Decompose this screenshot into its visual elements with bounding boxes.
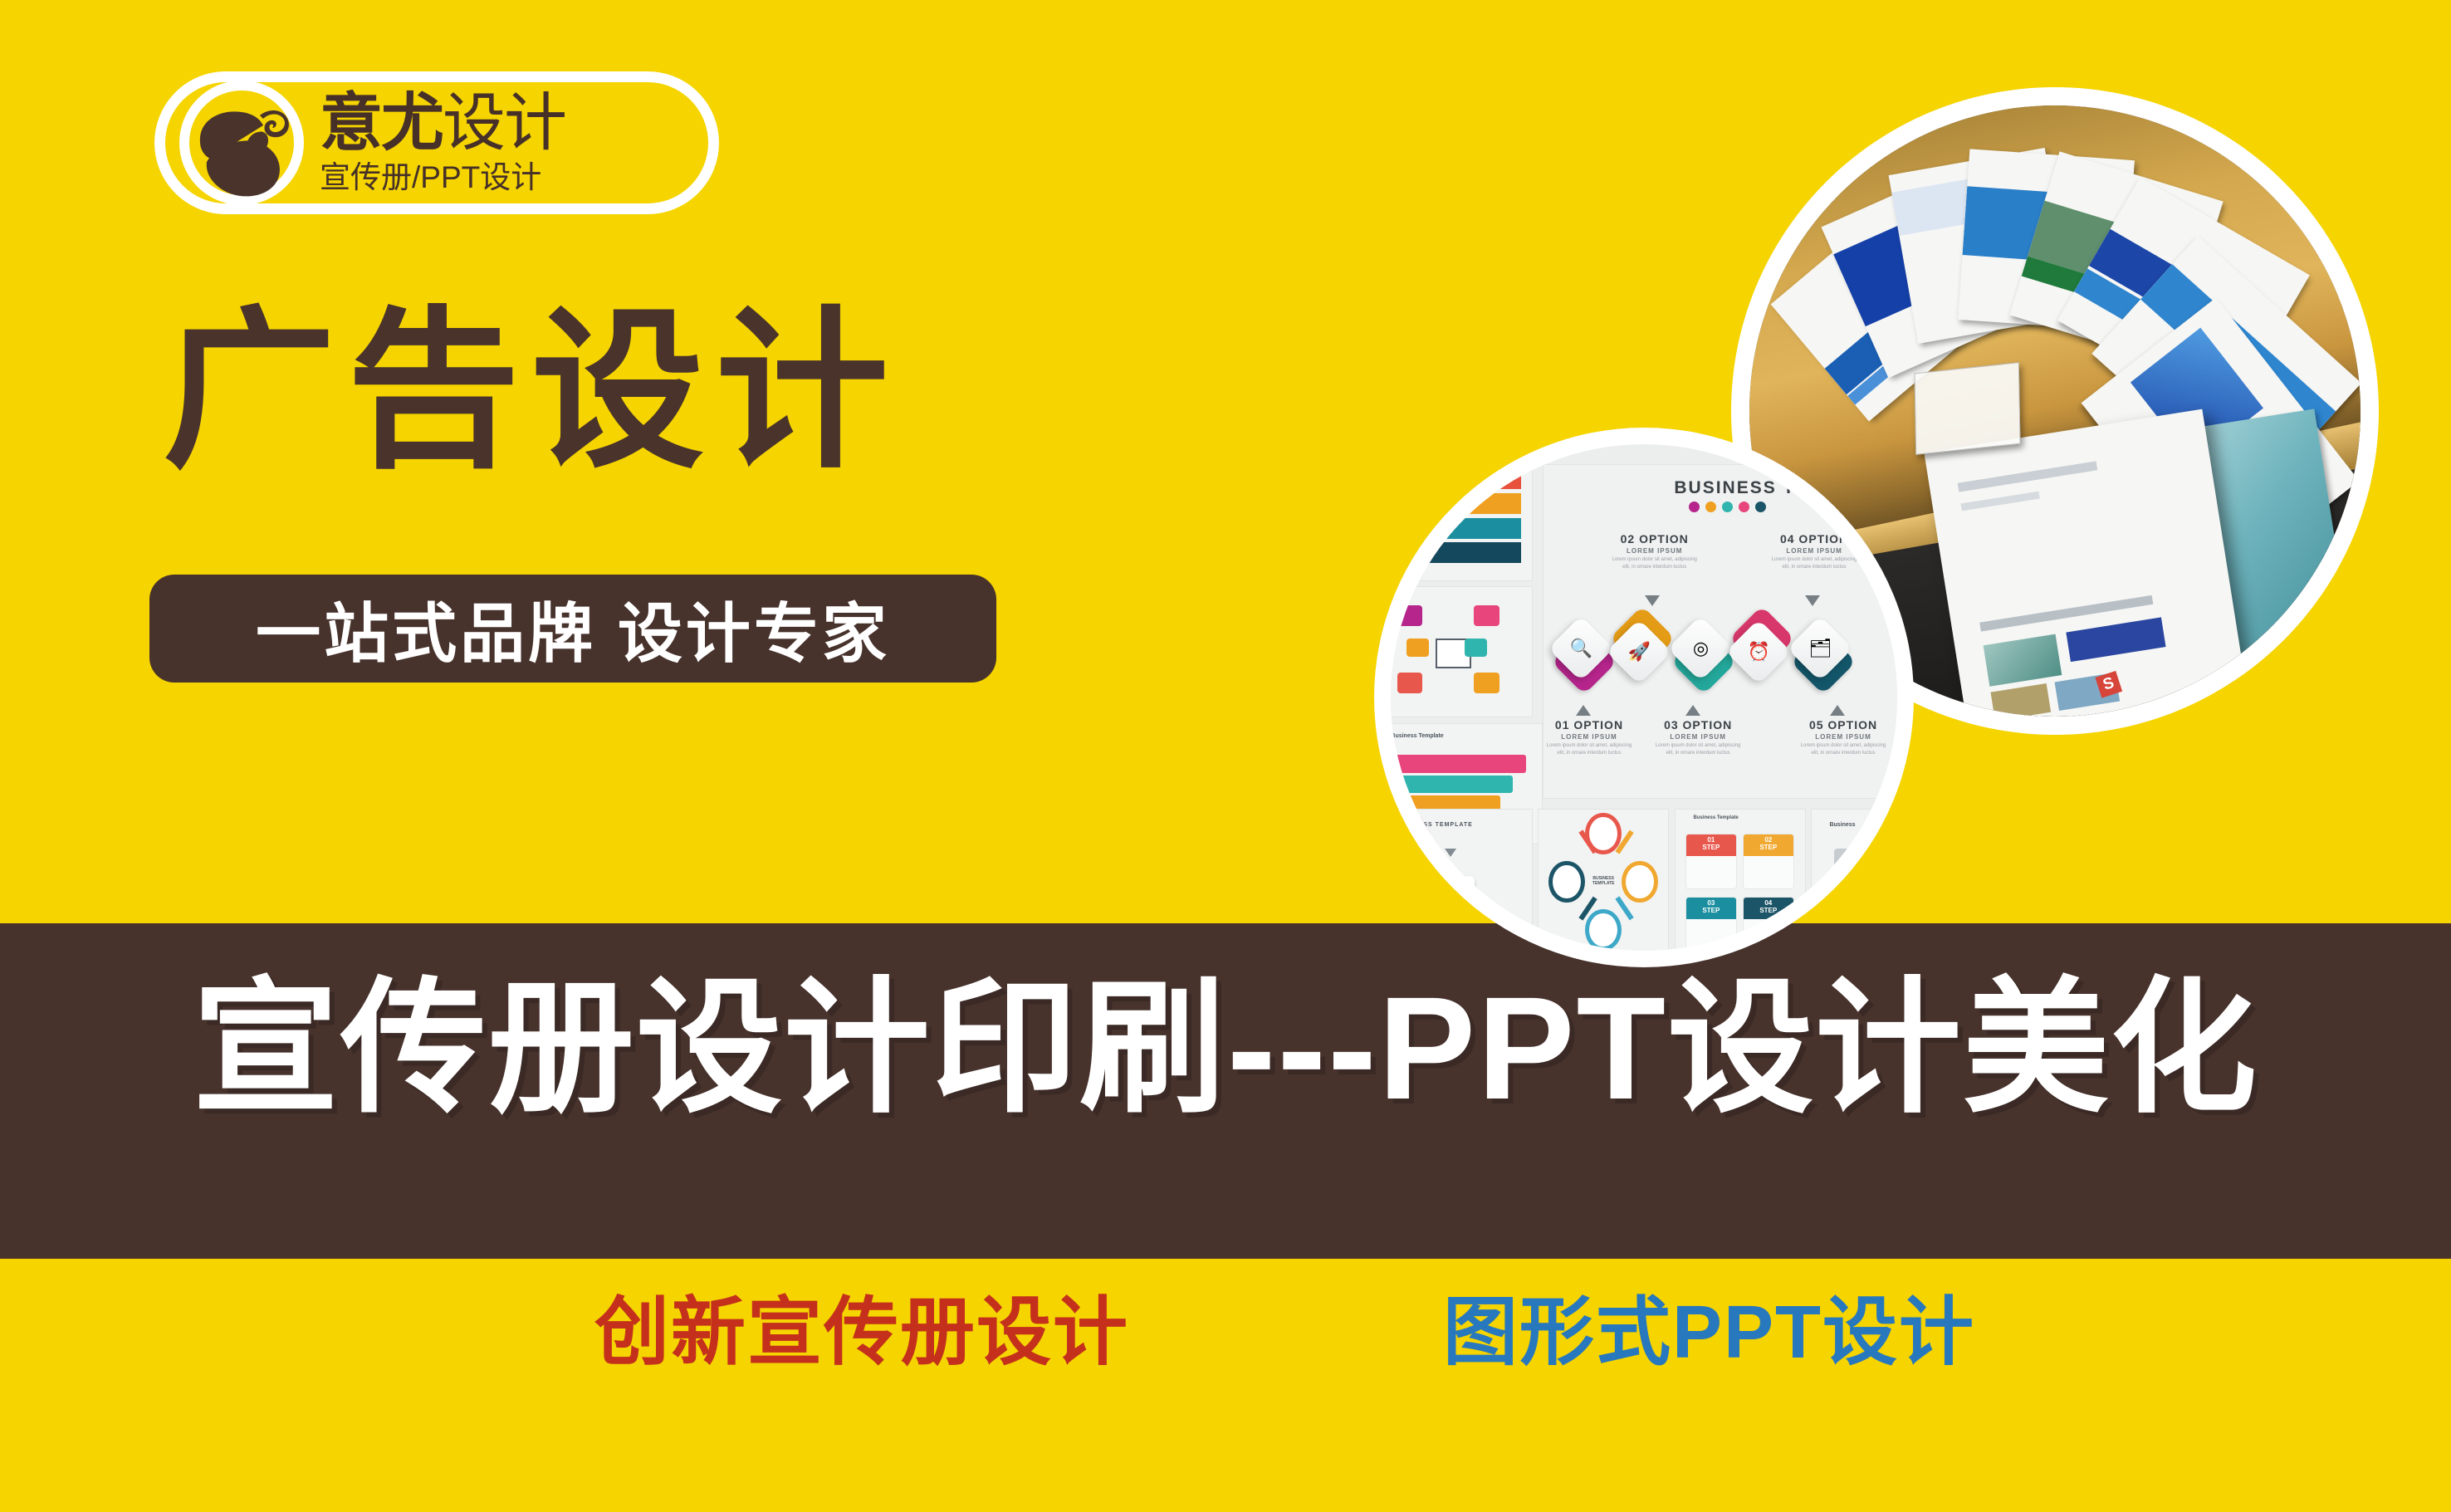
option-block-02: 02 OPTION LOREM IPSUM Lorem ipsum dolor … — [1609, 532, 1700, 571]
pointer-down-icon — [1805, 595, 1820, 606]
page-title: 广告设计 — [163, 306, 900, 478]
pointer-down-icon — [1645, 595, 1660, 606]
option-body: Lorem ipsum dolor sit amet, adipiscing e… — [1609, 556, 1700, 571]
pointer-up-icon — [1830, 705, 1845, 716]
option-title: 01 OPTION — [1543, 718, 1635, 732]
rocket-icon: 🚀 — [1616, 629, 1662, 675]
infographic-collage-circle: Business Template BUSINESS TEMPLATE — [1374, 428, 1914, 967]
option-block-01: 01 OPTION LOREM IPSUM Lorem ipsum dolor … — [1543, 718, 1635, 757]
brochure-front-cover: S — [1924, 409, 2248, 717]
pointer-up-icon — [1685, 705, 1700, 716]
infographic-collage-inner: Business Template BUSINESS TEMPLATE — [1391, 444, 1897, 951]
option-block-04: 04 OPTION LOREM IPSUM Lorem ipsum dolor … — [1769, 532, 1860, 571]
option-subtitle: LOREM IPSUM — [1652, 733, 1744, 741]
subtitle-pill: 一站式品牌 设计专家 — [149, 575, 996, 683]
banner-headline: 宣传册设计印刷---PPT设计美化 — [0, 951, 2451, 1148]
template-title: BUSINESS TEMPLATE — [1674, 478, 1889, 498]
option-title: 03 OPTION — [1652, 718, 1744, 732]
logo-badge: 意尤设计 宣传册/PPT设计 — [154, 71, 719, 214]
logo-title: 意尤设计 — [320, 93, 565, 154]
option-body: Lorem ipsum dolor sit amet, adipiscing e… — [1798, 742, 1889, 757]
option-title: 02 OPTION — [1609, 532, 1700, 546]
main-template-slide: BUSINESS TEMPLATE 02 OPTION LOREM IPSUM … — [1543, 464, 1897, 799]
diamond-row: 🔍 🚀 ◎ ⏰ 🗂 — [1558, 619, 1891, 698]
target-icon: ◎ — [1677, 625, 1724, 672]
option-subtitle: LOREM IPSUM — [1798, 733, 1889, 741]
mini-slide-world-map: BUSINESS TEMPLATE — [1391, 809, 1533, 951]
mini-slide-heading: Business Template — [1391, 733, 1443, 739]
option-block-03: 03 OPTION LOREM IPSUM Lorem ipsum dolor … — [1652, 718, 1744, 757]
option-title: 05 OPTION — [1798, 718, 1889, 732]
alarm-clock-icon: ⏰ — [1735, 629, 1782, 675]
subtitle-pill-label: 一站式品牌 设计专家 — [256, 582, 890, 675]
mini-slide-cross-diagram — [1391, 586, 1533, 718]
option-subtitle: LOREM IPSUM — [1609, 547, 1700, 555]
mini-slide-step-cards: Business Template 01STEP 02STEP 03STEP 0… — [1675, 809, 1807, 951]
mini-slide-chain-circles: BUSINESS TEMPLATE — [1538, 809, 1670, 951]
mini-slide-ribbons — [1391, 449, 1533, 581]
option-subtitle: LOREM IPSUM — [1543, 733, 1635, 741]
chain-center-label: BUSINESS TEMPLATE — [1583, 876, 1624, 886]
option-body: Lorem ipsum dolor sit amet, adipiscing e… — [1769, 556, 1860, 571]
pointer-up-icon — [1576, 705, 1591, 716]
caption-brochure-design: 创新宣传册设计 — [594, 1295, 1129, 1370]
template-color-dots — [1689, 502, 1766, 512]
bird-seed-logo-icon — [177, 82, 306, 203]
logo-subtitle: 宣传册/PPT设计 — [320, 162, 565, 193]
logo-text-column: 意尤设计 宣传册/PPT设计 — [320, 93, 565, 192]
caption-ppt-design: 图形式PPT设计 — [1443, 1295, 1975, 1370]
option-subtitle: LOREM IPSUM — [1769, 547, 1860, 555]
business-card-holder — [1914, 363, 2020, 455]
presenter-icon: 🗂 — [1797, 625, 1843, 672]
logo-title-bold: 意尤 — [320, 88, 443, 159]
magnifier-icon: 🔍 — [1558, 625, 1604, 672]
option-body: Lorem ipsum dolor sit amet, adipiscing e… — [1652, 742, 1744, 757]
option-title: 04 OPTION — [1769, 532, 1860, 546]
option-body: Lorem ipsum dolor sit amet, adipiscing e… — [1543, 742, 1635, 757]
mini-slide-misc: Business — [1811, 809, 1897, 951]
option-block-05: 05 OPTION LOREM IPSUM Lorem ipsum dolor … — [1798, 718, 1889, 757]
logo-title-thin: 设计 — [443, 88, 565, 159]
poster-root: 意尤设计 宣传册/PPT设计 广告设计 一站式品牌 设计专家 — [0, 0, 2451, 1512]
